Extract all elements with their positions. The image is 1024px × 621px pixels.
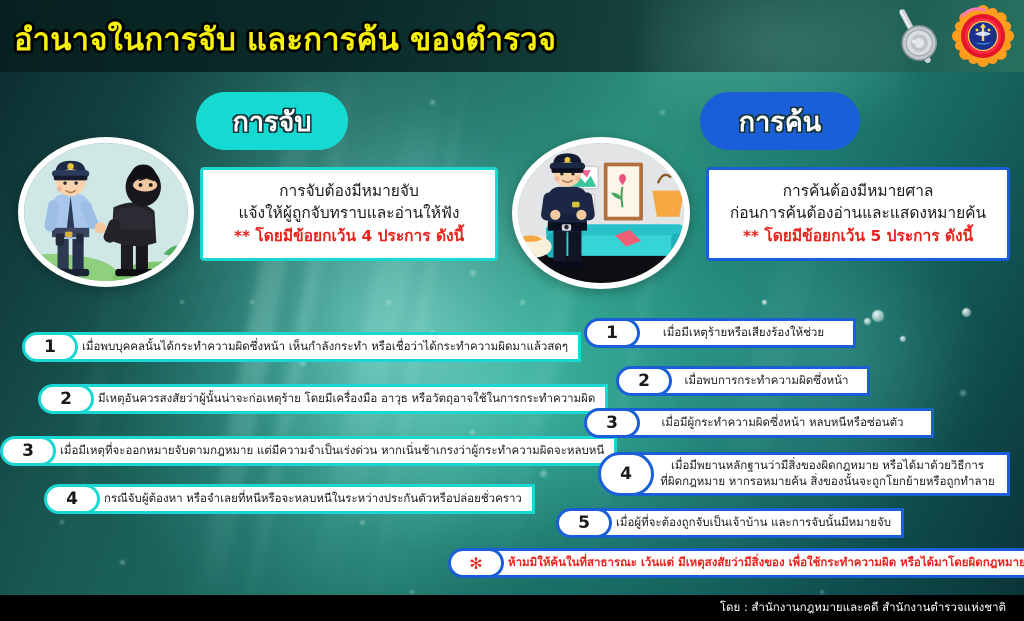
search-item-4-text-line-1: เมื่อมีพยานหลักฐานว่ามีสิ่งของผิดกฎหมาย … [671, 458, 984, 474]
search-item-1-number: 1 [584, 318, 640, 348]
search-item-1-body: เมื่อมีเหตุร้ายหรือเสียงร้องให้ช่วย [618, 318, 856, 348]
arrest-list-item-2[interactable]: 2 มีเหตุอันควรสงสัยว่าผู้นั้นน่าจะก่อเหต… [38, 384, 552, 414]
arrest-summary-card: การจับต้องมีหมายจับ แจ้งให้ผู้ถูกจับทราบ… [200, 167, 498, 261]
arrest-section-pill[interactable]: การจับ [196, 92, 348, 150]
arrest-item-2-text: มีเหตุอันควรสงสัยว่าผู้นั้นน่าจะก่อเหตุร… [98, 391, 595, 407]
page-title: อำนาจในการจับ และการค้น ของตำรวจ [14, 14, 556, 64]
search-summary-card: การค้นต้องมีหมายศาล ก่อนการค้นต้องอ่านแล… [706, 167, 1010, 261]
arrest-item-3-number: 3 [0, 436, 56, 466]
arrest-item-2-body: มีเหตุอันควรสงสัยว่าผู้นั้นน่าจะก่อเหตุร… [72, 384, 608, 414]
royal-thai-police-logo-icon [952, 2, 1014, 68]
arrest-card-line-2: แจ้งให้ผู้ถูกจับทราบและอ่านให้ฟัง [217, 202, 481, 224]
search-item-4-text-line-2: ที่ผิดกฎหมาย หากรอหมายค้น สิ่งของนั้นจะถ… [660, 474, 994, 490]
search-item-4-body: เมื่อมีพยานหลักฐานว่ามีสิ่งของผิดกฎหมาย … [632, 452, 1010, 496]
search-item-5-body: เมื่อผู้ที่จะต้องถูกจับเป็นเจ้าบ้าน และก… [590, 508, 904, 538]
arrest-item-4-text: กรณีจับผู้ต้องหา หรือจำเลยที่หนีหรือจะหล… [104, 491, 522, 507]
search-item-3-body: เมื่อมีผู้กระทำความผิดซึ่งหน้า หลบหนีหรื… [618, 408, 934, 438]
search-warning-text: ห้ามมิให้ค้นในที่สาธารณะ เว้นแต่ มีเหตุส… [508, 555, 1024, 571]
search-warning-note[interactable]: ✻ ห้ามมิให้ค้นในที่สาธารณะ เว้นแต่ มีเหต… [448, 548, 1000, 578]
arrest-list-item-1[interactable]: 1 เมื่อพบบุคคลนั้นได้กระทำความผิดซึ่งหน้… [22, 332, 514, 362]
arrest-item-3-body: เมื่อมีเหตุที่จะออกหมายจับตามกฎหมาย แต่ม… [34, 436, 617, 466]
search-item-3-text: เมื่อมีผู้กระทำความผิดซึ่งหน้า หลบหนีหรื… [662, 415, 904, 431]
search-item-2-number: 2 [616, 366, 672, 396]
footer-credit: โดย : สำนักงานกฎหมายและคดี สำนักงานตำรวจ… [720, 599, 1006, 617]
infographic-poster: อำนาจในการจับ และการค้น ของตำรวจ [0, 0, 1024, 621]
arrest-item-2-number: 2 [38, 384, 94, 414]
search-item-2-body: เมื่อพบการกระทำความผิดซึ่งหน้า [650, 366, 870, 396]
search-list-item-5[interactable]: 5 เมื่อผู้ที่จะต้องถูกจับเป็นเจ้าบ้าน แล… [556, 508, 904, 538]
arrest-item-1-body: เมื่อพบบุคคลนั้นได้กระทำความผิดซึ่งหน้า … [56, 332, 581, 362]
search-item-5-number: 5 [556, 508, 612, 538]
search-item-1-text: เมื่อมีเหตุร้ายหรือเสียงร้องให้ช่วย [663, 325, 824, 341]
search-section-pill[interactable]: การค้น [700, 92, 860, 150]
arrest-item-1-number: 1 [22, 332, 78, 362]
search-list-item-4[interactable]: 4 เมื่อมีพยานหลักฐานว่ามีสิ่งของผิดกฎหมา… [598, 452, 1010, 496]
policeman-arresting-thief-illustration [18, 137, 194, 287]
footer-bar: โดย : สำนักงานกฎหมายและคดี สำนักงานตำรวจ… [0, 595, 1024, 621]
search-item-2-text: เมื่อพบการกระทำความผิดซึ่งหน้า [685, 373, 849, 389]
search-card-line-1: การค้นต้องมีหมายศาล [723, 180, 993, 202]
arrest-item-4-number: 4 [44, 484, 100, 514]
search-warning-body: ห้ามมิให้ค้นในที่สาธารณะ เว้นแต่ มีเหตุส… [482, 548, 1024, 578]
policeman-in-living-room-illustration [512, 137, 690, 289]
search-list-item-3[interactable]: 3 เมื่อมีผู้กระทำความผิดซึ่งหน้า หลบหนีห… [584, 408, 934, 438]
search-list-item-2[interactable]: 2 เมื่อพบการกระทำความผิดซึ่งหน้า [616, 366, 870, 396]
arrest-item-4-body: กรณีจับผู้ต้องหา หรือจำเลยที่หนีหรือจะหล… [78, 484, 535, 514]
emblem-group [884, 2, 1014, 68]
asterisk-icon: ✻ [448, 548, 504, 578]
arrest-item-3-text: เมื่อมีเหตุที่จะออกหมายจับตามกฎหมาย แต่ม… [60, 443, 604, 459]
search-list-item-1[interactable]: 1 เมื่อมีเหตุร้ายหรือเสียงร้องให้ช่วย [584, 318, 856, 348]
search-item-5-text: เมื่อผู้ที่จะต้องถูกจับเป็นเจ้าบ้าน และก… [616, 515, 891, 531]
arrest-list-item-3[interactable]: 3 เมื่อมีเหตุที่จะออกหมายจับตามกฎหมาย แต… [0, 436, 552, 466]
search-item-4-number: 4 [598, 452, 654, 496]
arrest-item-1-text: เมื่อพบบุคคลนั้นได้กระทำความผิดซึ่งหน้า … [82, 339, 568, 355]
arrest-card-exception-note: ** โดยมีข้อยกเว้น 4 ประการ ดังนี้ [217, 225, 481, 247]
arrest-list-item-4[interactable]: 4 กรณีจับผู้ต้องหา หรือจำเลยที่หนีหรือจะ… [44, 484, 502, 514]
arrest-card-line-1: การจับต้องมีหมายจับ [217, 180, 481, 202]
search-card-line-2: ก่อนการค้นต้องอ่านและแสดงหมายค้น [723, 202, 993, 224]
search-item-3-number: 3 [584, 408, 640, 438]
police-silver-badge-icon [884, 2, 946, 68]
search-card-exception-note: ** โดยมีข้อยกเว้น 5 ประการ ดังนี้ [723, 225, 993, 247]
